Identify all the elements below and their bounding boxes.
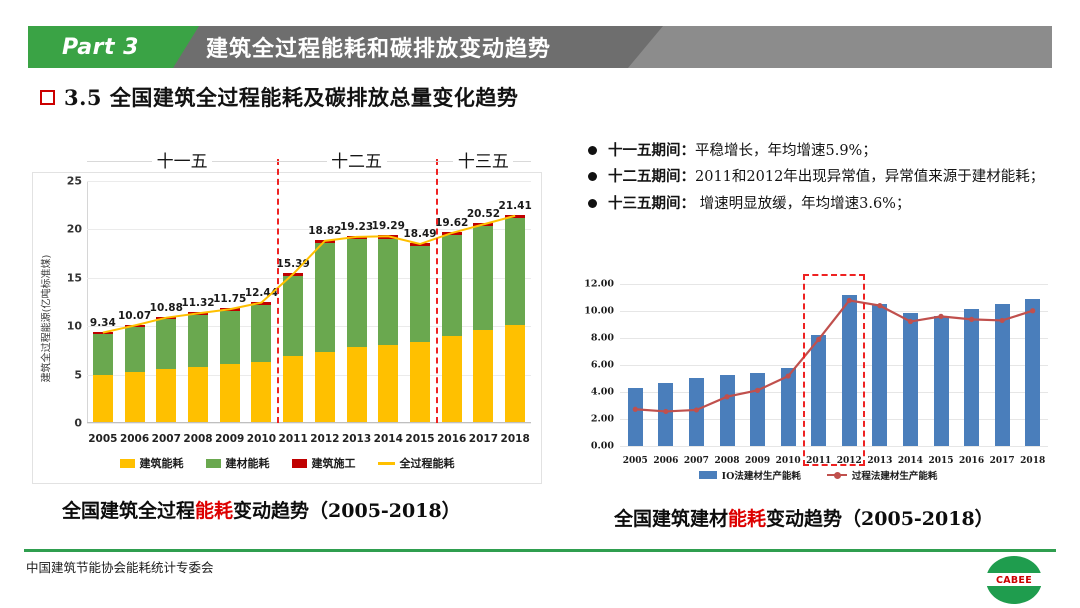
left-chart-bar bbox=[442, 232, 462, 422]
right-chart-y-tick: 8.00 bbox=[591, 333, 614, 344]
right-chart-bar bbox=[903, 313, 918, 446]
square-marker-icon bbox=[40, 90, 55, 105]
left-chart-period-label: 十三五 bbox=[458, 147, 509, 172]
left-chart-data-label: 12.44 bbox=[245, 287, 278, 299]
left-chart-bar-segment bbox=[378, 239, 398, 345]
right-chart-x-tick: 2014 bbox=[898, 456, 923, 466]
right-chart-y-tick: 12.00 bbox=[584, 279, 614, 290]
left-chart-bar-segment bbox=[125, 327, 145, 372]
logo-text: CABEE bbox=[986, 575, 1042, 586]
left-chart-bar-segment bbox=[315, 243, 335, 352]
left-chart-bar bbox=[378, 235, 398, 422]
left-chart-legend-item: 建材能耗 bbox=[206, 455, 270, 471]
left-chart-bar bbox=[505, 215, 525, 422]
right-chart: 0.002.004.006.008.0010.0012.002005200620… bbox=[572, 272, 1064, 494]
left-chart-data-label: 19.62 bbox=[435, 217, 468, 229]
right-caption-post: 变动趋势（2005-2018） bbox=[766, 508, 994, 530]
footer-text: 中国建筑节能协会能耗统计专委会 bbox=[26, 557, 214, 576]
left-chart-period-divider bbox=[277, 159, 279, 423]
right-chart-bar bbox=[658, 383, 673, 446]
right-chart-x-tick: 2006 bbox=[653, 456, 678, 466]
right-caption-pre: 全国建筑建材 bbox=[614, 508, 728, 530]
left-chart-bar-segment bbox=[188, 367, 208, 422]
bullet-dot-icon bbox=[588, 199, 597, 208]
left-chart-bar-segment bbox=[188, 312, 208, 315]
right-chart-x-tick: 2005 bbox=[623, 456, 648, 466]
right-chart-bar bbox=[995, 304, 1010, 446]
right-chart-bar bbox=[964, 309, 979, 446]
bullet-body: 平稳增长，年均增速5.9%； bbox=[695, 143, 877, 159]
left-chart-bar bbox=[156, 317, 176, 422]
left-chart-plot: 051015202520059.34200610.07200710.882008… bbox=[87, 181, 531, 423]
left-chart-data-label: 9.34 bbox=[90, 317, 116, 329]
right-chart-x-tick: 2017 bbox=[990, 456, 1015, 466]
left-chart-y-axis bbox=[87, 181, 88, 423]
left-chart-bar bbox=[315, 240, 335, 422]
left-chart-x-tick: 2007 bbox=[152, 433, 181, 445]
left-chart-period-divider bbox=[436, 159, 438, 423]
left-chart-x-tick: 2017 bbox=[469, 433, 498, 445]
bullet-body: 增速明显放缓，年均增速3.6%； bbox=[695, 196, 910, 212]
left-caption-post: 变动趋势（2005-2018） bbox=[233, 500, 461, 522]
left-chart-data-label: 10.07 bbox=[118, 310, 151, 322]
left-chart-bar-segment bbox=[283, 356, 303, 422]
left-chart-bar bbox=[93, 332, 113, 422]
legend-swatch-icon bbox=[292, 459, 307, 468]
left-chart-bar-segment bbox=[442, 235, 462, 336]
left-chart-legend-item: 建筑能耗 bbox=[120, 455, 184, 471]
left-chart-x-tick: 2009 bbox=[215, 433, 244, 445]
left-chart-bar-segment bbox=[347, 239, 367, 347]
cabee-logo: CABEE bbox=[986, 556, 1042, 604]
left-chart-bar-segment bbox=[93, 332, 113, 334]
right-chart-legend-item: IO法建材生产能耗 bbox=[699, 468, 801, 482]
bullet-body: 2011和2012年出现异常值，异常值来源于建材能耗； bbox=[695, 169, 1044, 185]
right-chart-legend-item: 过程法建材生产能耗 bbox=[827, 468, 938, 482]
left-chart-ylabel: 建筑全过程能源(亿吨标准煤) bbox=[34, 203, 56, 433]
left-chart-bar-segment bbox=[473, 226, 493, 330]
bullet-item: 十二五期间：2011和2012年出现异常值，异常值来源于建材能耗； bbox=[588, 166, 1058, 188]
right-chart-bar bbox=[750, 373, 765, 446]
left-chart-bar-segment bbox=[220, 308, 240, 311]
part-label: Part 3 bbox=[28, 26, 173, 68]
bullet-label: 十一五期间： bbox=[608, 142, 695, 159]
bullet-text: 十二五期间：2011和2012年出现异常值，异常值来源于建材能耗； bbox=[608, 166, 1044, 188]
left-chart-bar-segment bbox=[473, 223, 493, 226]
left-chart-data-label: 15.39 bbox=[277, 258, 310, 270]
right-chart-bar bbox=[1025, 299, 1040, 446]
left-chart-x-tick: 2013 bbox=[342, 433, 371, 445]
left-chart-bar-segment bbox=[251, 362, 271, 422]
left-chart-gridline bbox=[87, 181, 531, 182]
right-chart-legend: IO法建材生产能耗过程法建材生产能耗 bbox=[572, 468, 1064, 482]
right-chart-legend-label: 过程法建材生产能耗 bbox=[852, 468, 938, 482]
right-chart-x-tick: 2007 bbox=[684, 456, 709, 466]
left-chart-x-tick: 2012 bbox=[310, 433, 339, 445]
bullet-item: 十一五期间：平稳增长，年均增速5.9%； bbox=[588, 140, 1058, 162]
left-chart-bar-segment bbox=[410, 342, 430, 422]
left-chart-bar-segment bbox=[125, 325, 145, 327]
right-chart-caption: 全国建筑建材能耗变动趋势（2005-2018） bbox=[614, 504, 994, 531]
left-chart-y-tick: 20 bbox=[67, 223, 82, 236]
right-chart-x-tick: 2008 bbox=[714, 456, 739, 466]
left-chart-period-label: 十一五 bbox=[157, 147, 208, 172]
left-chart-x-tick: 2006 bbox=[120, 433, 149, 445]
left-chart-bar-segment bbox=[378, 235, 398, 238]
left-chart-legend-label: 建材能耗 bbox=[226, 455, 270, 471]
right-chart-y-tick: 10.00 bbox=[584, 306, 614, 317]
left-chart-x-tick: 2014 bbox=[374, 433, 403, 445]
left-chart-legend-label: 建筑施工 bbox=[312, 455, 356, 471]
left-chart-bar bbox=[347, 236, 367, 422]
right-chart-x-tick: 2013 bbox=[867, 456, 892, 466]
section-title: 3.5 全国建筑全过程能耗及碳排放总量变化趋势 bbox=[40, 82, 518, 112]
left-chart-bar-segment bbox=[442, 336, 462, 422]
right-chart-plot: 0.002.004.006.008.0010.0012.002005200620… bbox=[620, 284, 1048, 446]
right-chart-bar bbox=[720, 375, 735, 446]
left-chart-bar-segment bbox=[347, 347, 367, 422]
left-chart-bar-segment bbox=[410, 246, 430, 342]
footer-rule bbox=[24, 549, 1056, 552]
left-chart-data-label: 18.49 bbox=[403, 228, 436, 240]
legend-swatch-icon bbox=[699, 471, 717, 479]
right-chart-bar bbox=[781, 368, 796, 446]
left-chart-data-label: 11.75 bbox=[213, 293, 246, 305]
left-chart-bar bbox=[283, 273, 303, 422]
bullet-text: 十三五期间： 增速明显放缓，年均增速3.6%； bbox=[608, 193, 910, 215]
left-chart-period-rule bbox=[87, 161, 152, 162]
left-chart-bar-segment bbox=[315, 240, 335, 243]
left-chart-caption: 全国建筑全过程能耗变动趋势（2005-2018） bbox=[62, 496, 461, 523]
left-chart-bar-segment bbox=[125, 372, 145, 422]
left-chart-data-label: 18.82 bbox=[308, 225, 341, 237]
left-chart-period-rule bbox=[513, 161, 531, 162]
bullet-label: 十三五期间： bbox=[608, 195, 695, 212]
left-chart-x-tick: 2011 bbox=[279, 433, 308, 445]
section-title-text: 3.5 全国建筑全过程能耗及碳排放总量变化趋势 bbox=[64, 82, 518, 112]
bullet-list: 十一五期间：平稳增长，年均增速5.9%；十二五期间：2011和2012年出现异常… bbox=[588, 140, 1058, 219]
left-chart-x-tick: 2008 bbox=[183, 433, 212, 445]
left-chart-bar bbox=[473, 223, 493, 422]
left-chart-bar-segment bbox=[378, 345, 398, 422]
left-chart-bar-segment bbox=[442, 232, 462, 235]
left-chart-bar-segment bbox=[473, 330, 493, 422]
left-chart-bar-segment bbox=[156, 317, 176, 320]
left-chart-bar-segment bbox=[220, 364, 240, 422]
right-chart-bar bbox=[872, 304, 887, 446]
left-chart-bar bbox=[125, 325, 145, 422]
left-chart-bar-segment bbox=[93, 334, 113, 376]
bullet-dot-icon bbox=[588, 146, 597, 155]
left-chart-bar-segment bbox=[93, 375, 113, 422]
header-band: Part 3 建筑全过程能耗和碳排放变动趋势 bbox=[28, 26, 1052, 68]
right-chart-x-tick: 2015 bbox=[928, 456, 953, 466]
right-chart-y-tick: 6.00 bbox=[591, 360, 614, 371]
left-chart-legend-label: 全过程能耗 bbox=[400, 455, 455, 471]
right-chart-y-tick: 4.00 bbox=[591, 387, 614, 398]
right-caption-highlight: 能耗 bbox=[728, 508, 766, 530]
left-chart-bar-segment bbox=[347, 236, 367, 239]
left-chart-bar-segment bbox=[251, 302, 271, 305]
left-chart-data-label: 10.88 bbox=[150, 302, 183, 314]
legend-line-icon bbox=[827, 474, 847, 477]
left-chart-data-label: 21.41 bbox=[499, 200, 532, 212]
left-chart-bar bbox=[220, 308, 240, 422]
left-chart-data-label: 20.52 bbox=[467, 208, 500, 220]
bullet-item: 十三五期间： 增速明显放缓，年均增速3.6%； bbox=[588, 193, 1058, 215]
right-chart-bar bbox=[689, 378, 704, 446]
left-chart-period-rule bbox=[277, 161, 326, 162]
left-chart: 建筑全过程能源(亿吨标准煤) 051015202520059.34200610.… bbox=[32, 172, 542, 484]
left-chart-bar bbox=[410, 243, 430, 422]
left-chart-y-tick: 0 bbox=[74, 417, 82, 430]
left-chart-bar bbox=[188, 312, 208, 422]
left-chart-period-rule bbox=[212, 161, 277, 162]
legend-line-icon bbox=[378, 462, 395, 465]
left-chart-period-label: 十二五 bbox=[331, 147, 382, 172]
left-chart-y-tick: 15 bbox=[67, 271, 82, 284]
left-chart-bar-segment bbox=[505, 215, 525, 218]
bullet-text: 十一五期间：平稳增长，年均增速5.9%； bbox=[608, 140, 877, 162]
bullet-dot-icon bbox=[588, 172, 597, 181]
left-chart-x-tick: 2016 bbox=[437, 433, 466, 445]
left-chart-bar bbox=[251, 302, 271, 422]
left-chart-y-tick: 5 bbox=[74, 368, 82, 381]
right-chart-x-tick: 2016 bbox=[959, 456, 984, 466]
left-chart-x-tick: 2010 bbox=[247, 433, 276, 445]
legend-swatch-icon bbox=[206, 459, 221, 468]
left-chart-gridline bbox=[87, 278, 531, 279]
left-chart-x-tick: 2005 bbox=[88, 433, 117, 445]
left-chart-x-tick: 2018 bbox=[501, 433, 530, 445]
left-chart-bar-segment bbox=[315, 352, 335, 422]
left-chart-bar-segment bbox=[283, 273, 303, 276]
right-chart-bar bbox=[934, 316, 949, 446]
right-chart-x-tick: 2010 bbox=[776, 456, 801, 466]
left-chart-period-rule bbox=[436, 161, 454, 162]
left-chart-gridline bbox=[87, 375, 531, 376]
left-chart-data-label: 19.23 bbox=[340, 221, 373, 233]
left-chart-legend-label: 建筑能耗 bbox=[140, 455, 184, 471]
left-chart-legend: 建筑能耗建材能耗建筑施工全过程能耗 bbox=[33, 455, 541, 471]
left-chart-bar-segment bbox=[251, 305, 271, 362]
left-chart-gridline bbox=[87, 423, 531, 424]
left-chart-gridline bbox=[87, 326, 531, 327]
left-chart-data-label: 11.32 bbox=[181, 297, 214, 309]
left-chart-ylabel-text: 建筑全过程能源(亿吨标准煤) bbox=[38, 254, 53, 382]
left-chart-data-label: 19.29 bbox=[372, 220, 405, 232]
left-chart-bar-segment bbox=[156, 369, 176, 422]
left-chart-bar-segment bbox=[156, 319, 176, 369]
legend-swatch-icon bbox=[120, 459, 135, 468]
right-chart-x-tick: 2009 bbox=[745, 456, 770, 466]
slide: Part 3 建筑全过程能耗和碳排放变动趋势 3.5 全国建筑全过程能耗及碳排放… bbox=[0, 0, 1080, 608]
bullet-label: 十二五期间： bbox=[608, 168, 695, 185]
left-chart-bar-segment bbox=[505, 218, 525, 324]
left-caption-pre: 全国建筑全过程 bbox=[62, 500, 195, 522]
left-chart-legend-item: 全过程能耗 bbox=[378, 455, 455, 471]
left-chart-legend-item: 建筑施工 bbox=[292, 455, 356, 471]
left-chart-y-tick: 25 bbox=[67, 175, 82, 188]
right-chart-y-tick: 2.00 bbox=[591, 414, 614, 425]
right-chart-y-tick: 0.00 bbox=[591, 441, 614, 452]
left-chart-bar-segment bbox=[505, 325, 525, 422]
right-chart-x-tick: 2018 bbox=[1020, 456, 1045, 466]
left-chart-bar-segment bbox=[410, 243, 430, 246]
left-chart-period-rule bbox=[387, 161, 436, 162]
left-chart-bar-segment bbox=[220, 311, 240, 364]
left-chart-x-tick: 2015 bbox=[405, 433, 434, 445]
left-chart-y-tick: 10 bbox=[67, 320, 82, 333]
left-chart-bar-segment bbox=[188, 315, 208, 367]
header-title: 建筑全过程能耗和碳排放变动趋势 bbox=[206, 26, 551, 68]
right-chart-highlight-box bbox=[803, 274, 864, 466]
left-chart-bar-segment bbox=[283, 276, 303, 356]
right-chart-bar bbox=[628, 388, 643, 446]
left-caption-highlight: 能耗 bbox=[195, 500, 233, 522]
right-chart-legend-label: IO法建材生产能耗 bbox=[722, 468, 801, 482]
